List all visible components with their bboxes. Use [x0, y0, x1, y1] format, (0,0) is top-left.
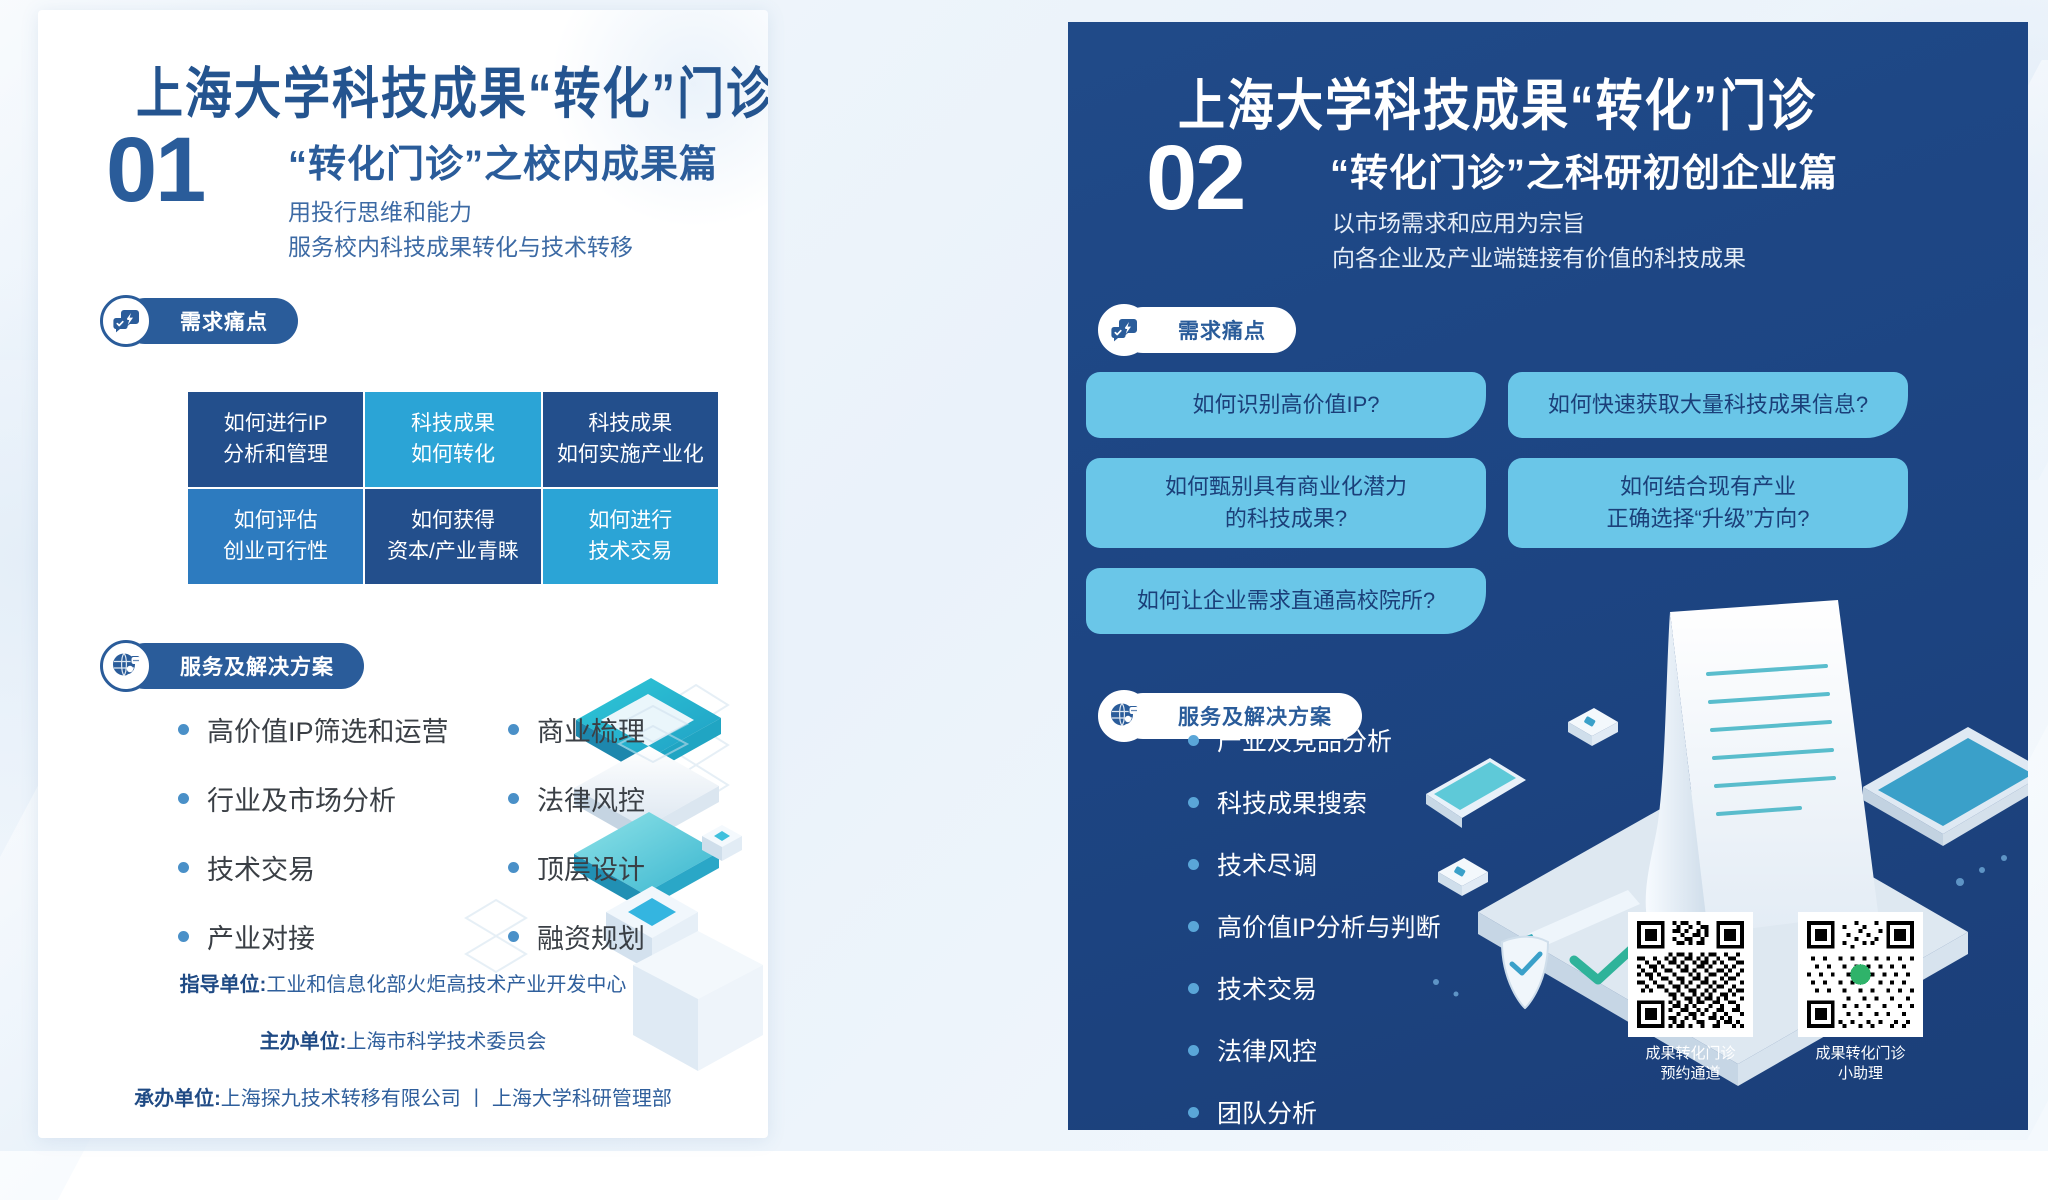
credit-value: 上海市科学技术委员会 — [346, 1031, 546, 1053]
panel-02-subtitle: “转化门诊”之科研初创企业篇 — [1330, 142, 1838, 197]
list-item-label: 商业梳理 — [537, 710, 645, 749]
list-item-label: 行业及市场分析 — [207, 779, 396, 818]
panel-02-desc-line1: 以市场需求和应用为宗旨 — [1332, 204, 1585, 238]
service-list-col-1: 高价值IP筛选和运营 行业及市场分析 技术交易 产业对接 — [178, 710, 478, 986]
question-bubble: 如何快速获取大量科技成果信息? — [1508, 372, 1908, 438]
list-item-label: 产业对接 — [207, 917, 315, 956]
bullet-dot — [1188, 921, 1199, 932]
qr-caption-line2: 小助理 — [1798, 1064, 1923, 1084]
question-bubble: 如何甄别具有商业化潜力的科技成果? — [1086, 458, 1486, 548]
grid-cell-line2: 分析和管理 — [223, 443, 328, 466]
grid-cell-line1: 科技成果 — [411, 412, 495, 435]
grid-cell: 如何进行IP分析和管理 — [188, 392, 363, 487]
panel-02-number: 02 — [1146, 136, 1244, 221]
panel-01-service-badge: 服务及解决方案 — [100, 640, 364, 692]
list-item-label: 产业及竞品分析 — [1217, 722, 1392, 758]
list-item-label: 融资规划 — [537, 917, 645, 956]
list-item-label: 技术交易 — [207, 848, 315, 887]
list-item: 产业及竞品分析 — [1188, 722, 1441, 758]
grid-cell-line2: 如何实施产业化 — [557, 443, 704, 466]
list-item: 法律风控 — [1188, 1032, 1441, 1068]
list-item: 高价值IP分析与判断 — [1188, 908, 1441, 944]
bullet-dot — [1188, 1107, 1199, 1118]
grid-cell: 如何评估创业可行性 — [188, 489, 363, 584]
panel-02: 上海大学科技成果“转化”门诊 02 “转化门诊”之科研初创企业篇 以市场需求和应… — [1068, 22, 2028, 1130]
question-bubble-line1: 如何结合现有产业 — [1620, 474, 1796, 499]
bullet-dot — [178, 931, 189, 942]
globe-person-icon — [100, 640, 152, 692]
panel-01-desc-line2: 服务校内科技成果转化与技术转移 — [288, 228, 633, 262]
qr-caption: 成果转化门诊 预约通道 — [1628, 1044, 1753, 1085]
globe-person-icon — [1098, 690, 1150, 742]
list-item-label: 高价值IP分析与判断 — [1217, 908, 1441, 944]
service-list-col-2: 商业梳理 法律风控 顶层设计 融资规划 — [508, 710, 738, 986]
list-item-label: 技术交易 — [1217, 970, 1317, 1006]
bullet-dot — [508, 931, 519, 942]
question-bubble: 如何让企业需求直通高校院所? — [1086, 568, 1486, 634]
grid-cell-line1: 如何评估 — [234, 509, 318, 532]
pain-point-grid: 如何进行IP分析和管理 科技成果如何转化 科技成果如何实施产业化 如何评估创业可… — [188, 392, 718, 584]
panel-02-pain-badge: 需求痛点 — [1098, 304, 1296, 356]
qr-caption: 成果转化门诊 小助理 — [1798, 1044, 1923, 1085]
list-item-label: 高价值IP筛选和运营 — [207, 710, 449, 749]
grid-cell-line1: 如何进行IP — [224, 412, 328, 435]
grid-cell-line2: 如何转化 — [411, 443, 495, 466]
bullet-dot — [508, 724, 519, 735]
panel-02-main-title: 上海大学科技成果“转化”门诊 — [1178, 60, 1817, 141]
chat-lightning-icon — [1098, 304, 1150, 356]
list-item: 法律风控 — [508, 779, 738, 818]
list-item: 技术交易 — [1188, 970, 1441, 1006]
credit-label: 主办单位: — [260, 1031, 347, 1053]
qr-code-image — [1798, 912, 1923, 1037]
list-item: 融资规划 — [508, 917, 738, 956]
panel-01-pain-badge-label: 需求痛点 — [180, 306, 268, 336]
credit-value: 上海探九技术转移有限公司 丨 上海大学科研管理部 — [221, 1088, 672, 1110]
credit-row: 承办单位:上海探九技术转移有限公司 丨 上海大学科研管理部 — [38, 1082, 768, 1111]
credits-block: 指导单位:工业和信息化部火炬高技术产业开发中心 主办单位:上海市科学技术委员会 … — [38, 968, 768, 1138]
list-item: 技术尽调 — [1188, 846, 1441, 882]
bullet-dot — [178, 862, 189, 873]
panel-01-service-badge-label: 服务及解决方案 — [180, 651, 334, 681]
qr-code-appointment[interactable]: 成果转化门诊 预约通道 — [1628, 912, 1753, 1085]
panel-01: 上海大学科技成果“转化”门诊 01 “转化门诊”之校内成果篇 用投行思维和能力 … — [38, 10, 768, 1138]
grid-cell: 科技成果如何实施产业化 — [543, 392, 718, 487]
question-bubble: 如何识别高价值IP? — [1086, 372, 1486, 438]
qr-code-assistant[interactable]: 成果转化门诊 小助理 — [1798, 912, 1923, 1085]
bullet-dot — [1188, 859, 1199, 870]
panel-02-desc-line2: 向各企业及产业端链接有价值的科技成果 — [1332, 239, 1746, 273]
credit-label: 指导单位: — [180, 974, 267, 996]
list-item-label: 法律风控 — [1217, 1032, 1317, 1068]
panel-01-main-title: 上海大学科技成果“转化”门诊 — [136, 48, 768, 129]
grid-cell-line1: 如何获得 — [411, 509, 495, 532]
bullet-dot — [1188, 983, 1199, 994]
list-item: 产业对接 — [178, 917, 478, 956]
grid-cell-line2: 资本/产业青睐 — [387, 540, 519, 563]
list-item: 顶层设计 — [508, 848, 738, 887]
panel-01-pain-badge: 需求痛点 — [100, 295, 298, 347]
grid-cell-line1: 如何进行 — [588, 509, 672, 532]
list-item: 行业及市场分析 — [178, 779, 478, 818]
question-bubble-label: 如何快速获取大量科技成果信息? — [1548, 389, 1868, 421]
panel-02-service-list: 产业及竞品分析 科技成果搜索 技术尽调 高价值IP分析与判断 技术交易 法律风控… — [1188, 722, 1441, 1130]
question-bubble-label: 如何识别高价值IP? — [1192, 389, 1379, 421]
grid-cell-line1: 科技成果 — [588, 412, 672, 435]
list-item-label: 顶层设计 — [537, 848, 645, 887]
grid-cell-line2: 创业可行性 — [223, 540, 328, 563]
list-item-label: 科技成果搜索 — [1217, 784, 1367, 820]
panel-01-desc-line1: 用投行思维和能力 — [288, 193, 472, 227]
credit-row: 指导单位:工业和信息化部火炬高技术产业开发中心 — [38, 968, 768, 997]
bullet-dot — [508, 793, 519, 804]
bullet-dot — [178, 724, 189, 735]
question-bubble-line1: 如何甄别具有商业化潜力 — [1165, 474, 1407, 499]
bullet-dot — [1188, 797, 1199, 808]
question-bubble-label: 如何让企业需求直通高校院所? — [1137, 585, 1435, 617]
grid-cell-line2: 技术交易 — [588, 540, 672, 563]
qr-caption-line1: 成果转化门诊 — [1628, 1044, 1753, 1064]
bullet-dot — [1188, 1045, 1199, 1056]
qr-caption-line1: 成果转化门诊 — [1798, 1044, 1923, 1064]
chat-lightning-icon — [100, 295, 152, 347]
question-bubble: 如何结合现有产业正确选择“升级”方向? — [1508, 458, 1908, 548]
bullet-dot — [178, 793, 189, 804]
list-item: 团队分析 — [1188, 1094, 1441, 1130]
grid-cell: 如何获得资本/产业青睐 — [365, 489, 540, 584]
bullet-dot — [508, 862, 519, 873]
qr-caption-line2: 预约通道 — [1628, 1064, 1753, 1084]
qr-code-image — [1628, 912, 1753, 1037]
question-bubble-line2: 正确选择“升级”方向? — [1607, 506, 1810, 531]
list-item: 技术交易 — [178, 848, 478, 887]
panel-02-pain-badge-label: 需求痛点 — [1178, 315, 1266, 345]
panel-01-subtitle: “转化门诊”之校内成果篇 — [288, 133, 718, 188]
list-item: 商业梳理 — [508, 710, 738, 749]
credit-row: 主办单位:上海市科学技术委员会 — [38, 1025, 768, 1054]
list-item-label: 技术尽调 — [1217, 846, 1317, 882]
list-item: 高价值IP筛选和运营 — [178, 710, 478, 749]
list-item-label: 法律风控 — [537, 779, 645, 818]
credit-value: 工业和信息化部火炬高技术产业开发中心 — [266, 974, 626, 996]
bullet-dot — [1188, 735, 1199, 746]
list-item-label: 团队分析 — [1217, 1094, 1317, 1130]
grid-cell: 科技成果如何转化 — [365, 392, 540, 487]
list-item: 科技成果搜索 — [1188, 784, 1441, 820]
question-bubble-line2: 的科技成果? — [1225, 506, 1347, 531]
grid-cell: 如何进行技术交易 — [543, 489, 718, 584]
credit-label: 承办单位: — [134, 1088, 221, 1110]
panel-01-number: 01 — [106, 128, 204, 213]
